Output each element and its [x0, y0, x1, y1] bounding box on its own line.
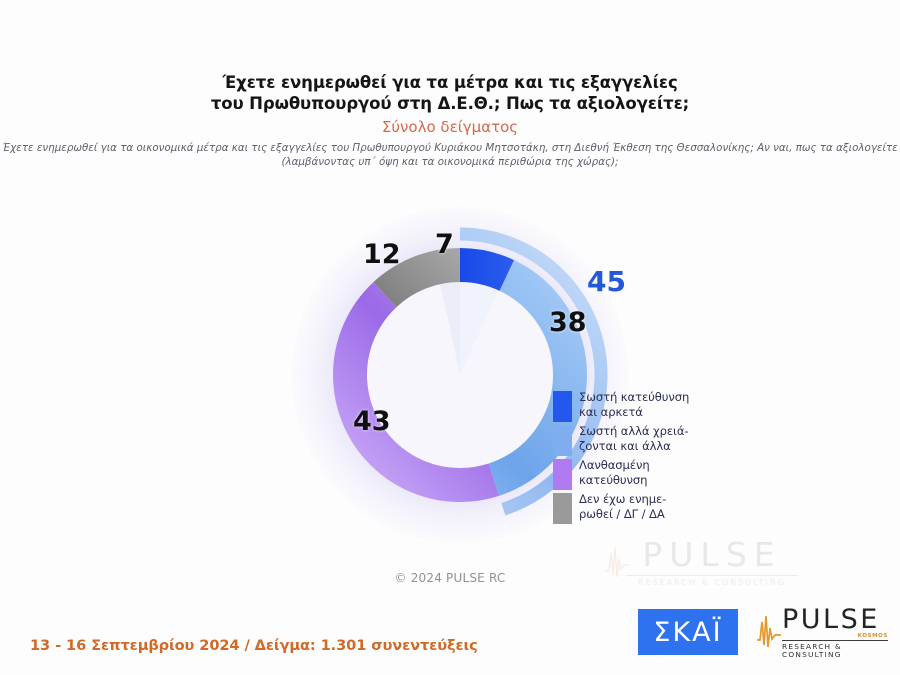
question-note: Έχετε ενημερωθεί για τα οικονομικά μέτρα… — [0, 141, 900, 170]
legend-item-correct-needs-more[interactable]: Σωστή αλλά χρειά- ζονται και άλλα — [553, 424, 718, 456]
copyright-text: © 2024 PULSE RC — [0, 571, 900, 585]
page-title-line-1: Έχετε ενημερωθεί για τα μέτρα και τις εξ… — [0, 72, 900, 93]
legend-swatch-wrong-direction — [553, 459, 572, 490]
legend-swatch-correct-needs-more — [553, 425, 572, 456]
legend-swatch-not-informed — [553, 493, 572, 524]
label-value-38: 38 — [549, 309, 587, 336]
legend-item-wrong-direction[interactable]: Λανθασμένη κατεύθυνση — [553, 458, 718, 490]
sample-subtitle: Σύνολο δείγματος — [0, 118, 900, 136]
fieldwork-dates-and-sample: 13 - 16 Σεπτεμβρίου 2024 / Δείγμα: 1.301… — [30, 637, 478, 654]
pulse-logo-main: PULSE — [782, 606, 888, 633]
legend-swatch-correct-enough — [553, 391, 572, 422]
label-value-43: 43 — [353, 408, 391, 435]
legend-label-wrong-direction: Λανθασμένη κατεύθυνση — [579, 458, 650, 488]
label-value-7: 7 — [435, 231, 454, 258]
pulse-logo-sub: RESEARCH & CONSULTING — [782, 643, 888, 658]
pulse-logo-kosmos: KOSMOS — [858, 634, 888, 640]
pulse-logo-wordmark: PULSE KOSMOS RESEARCH & CONSULTING — [782, 606, 888, 658]
legend-label-correct-enough: Σωστή κατεύθυνση και αρκετά — [579, 390, 689, 420]
label-value-12: 12 — [363, 241, 401, 268]
pulse-waveform-logo-icon — [756, 612, 782, 652]
page-title-line-2: του Πρωθυπουργού στη Δ.Ε.Θ.; Πως τα αξιο… — [0, 93, 900, 114]
skai-logo-text: ΣΚΑΪ — [653, 617, 722, 648]
header: Έχετε ενημερωθεί για τα μέτρα και τις εξ… — [0, 72, 900, 170]
skai-logo[interactable]: ΣΚΑΪ — [638, 609, 738, 655]
legend-item-correct-enough[interactable]: Σωστή κατεύθυνση και αρκετά — [553, 390, 718, 422]
pulse-logo[interactable]: PULSE KOSMOS RESEARCH & CONSULTING — [756, 608, 888, 656]
logo-group: ΣΚΑΪ PULSE KOSMOS RESEARCH & CONSULTING — [638, 608, 888, 656]
pulse-logo-rule — [782, 640, 888, 641]
legend-label-correct-needs-more: Σωστή αλλά χρειά- ζονται και άλλα — [579, 424, 688, 454]
poll-result-slide: Έχετε ενημερωθεί για τα μέτρα και τις εξ… — [0, 0, 900, 675]
label-total-45: 45 — [587, 268, 626, 296]
chart-legend: Σωστή κατεύθυνση και αρκετά Σωστή αλλά χ… — [553, 390, 718, 526]
legend-item-not-informed[interactable]: Δεν έχω ενημε- ρωθεί / ΔΓ / ΔΑ — [553, 492, 718, 524]
legend-label-not-informed: Δεν έχω ενημε- ρωθεί / ΔΓ / ΔΑ — [579, 492, 666, 522]
